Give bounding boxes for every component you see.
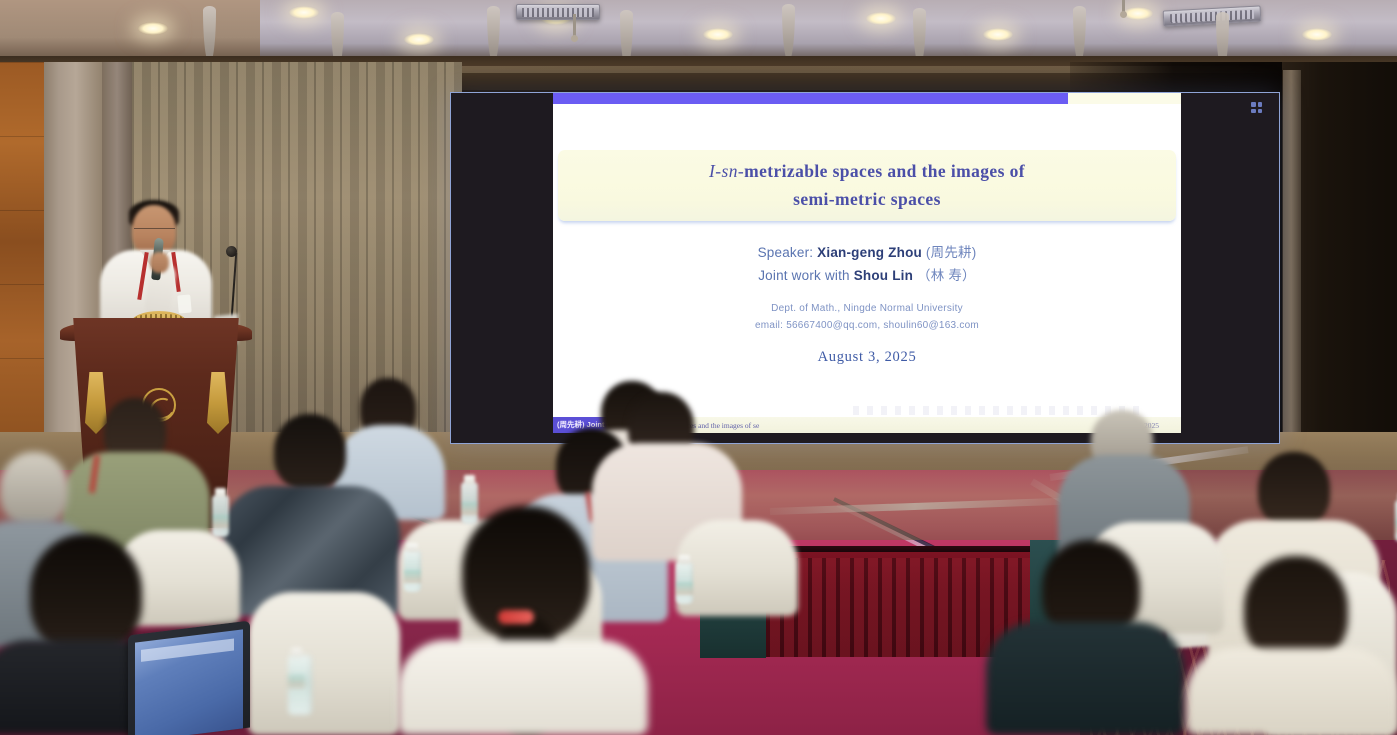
- presentation-slide: I-sn-metrizable spaces and the images of…: [553, 93, 1181, 433]
- downlight-3: [404, 33, 434, 46]
- track-light-fixture-left: [516, 4, 600, 20]
- chair-4: [676, 520, 798, 616]
- slide-speaker-line: Speaker: Xian-geng Zhou (周先耕): [553, 241, 1181, 264]
- audience-head-mid-5: [1258, 452, 1330, 528]
- front-desk-red-skirt: [766, 552, 1030, 657]
- audience-head-mid-2: [274, 414, 346, 490]
- audience-head-near-1: [30, 534, 142, 654]
- water-bottle-2[interactable]: [461, 482, 478, 524]
- downlight-5: [703, 28, 733, 41]
- joint-name: Shou Lin: [854, 268, 913, 283]
- audience-laptop[interactable]: [128, 621, 250, 735]
- water-bottle-3[interactable]: [404, 550, 421, 592]
- ceiling-warm-section: [0, 0, 260, 62]
- laptop-screen: [135, 629, 243, 735]
- downlight-7: [983, 28, 1013, 41]
- water-bottle-5[interactable]: [288, 655, 312, 715]
- downlight-6: [866, 12, 896, 25]
- downlight-8: [1123, 7, 1153, 20]
- downlight-2: [289, 6, 319, 19]
- slide-speaker-block: Speaker: Xian-geng Zhou (周先耕) Joint work…: [553, 241, 1181, 287]
- slide-date: August 3, 2025: [553, 349, 1181, 366]
- presenter-hand: [150, 252, 169, 273]
- audience-torso-near-3: [986, 622, 1184, 735]
- affiliation-text: Dept. of Math., Ningde Normal University: [553, 301, 1181, 318]
- water-bottle-1[interactable]: [212, 495, 229, 537]
- audience-head-near-0: [0, 452, 68, 526]
- slide-faint-text-artifact: [853, 406, 1143, 415]
- chair-7: [248, 592, 400, 735]
- slide-title-box: I-sn-metrizable spaces and the images of…: [558, 150, 1176, 221]
- audience-hair-tie-red: [498, 610, 534, 624]
- slide-title-rest: metrizable spaces and the images of: [744, 161, 1025, 181]
- slide-title-sn: -sn-: [715, 161, 744, 181]
- projection-screen[interactable]: I-sn-metrizable spaces and the images of…: [450, 92, 1280, 444]
- joint-label: Joint work with: [758, 268, 850, 283]
- slide-titlebar-end: [1068, 93, 1181, 104]
- slide-joint-line: Joint work with Shou Lin （林 寿）: [553, 264, 1181, 287]
- downlight-1: [138, 22, 168, 35]
- speaker-name: Xian-geng Zhou: [817, 245, 922, 260]
- slide-date-block: August 3, 2025: [553, 349, 1181, 366]
- water-bottle-4[interactable]: [676, 562, 693, 604]
- slide-title-line-1: I-sn-metrizable spaces and the images of: [709, 158, 1025, 185]
- slide-title-line-2: semi-metric spaces: [793, 186, 941, 213]
- audience-torso-near-2: [398, 640, 648, 735]
- joint-name-cjk: （林 寿）: [917, 268, 976, 283]
- speaker-name-cjk: (周先耕): [926, 245, 977, 260]
- sprinkler-head-2: [1122, 0, 1125, 14]
- speaker-label: Speaker:: [758, 245, 814, 260]
- presenter-glasses: [134, 228, 175, 236]
- lecture-hall-photo: I-sn-metrizable spaces and the images of…: [0, 0, 1397, 735]
- footer-title: I-sn-metrizable spaces and the images of…: [624, 421, 1113, 430]
- presenter-name-badge: [177, 294, 192, 313]
- grid-dots-icon: [1251, 102, 1262, 113]
- email-text: email: 56667400@qq.com, shoulin60@163.co…: [553, 318, 1181, 335]
- audience-torso-near-4: [1186, 648, 1397, 735]
- downlight-9: [1302, 28, 1332, 41]
- slide-affiliation-block: Dept. of Math., Ningde Normal University…: [553, 301, 1181, 334]
- slide-titlebar-purple: [553, 93, 1068, 104]
- sprinkler-head-1: [573, 14, 576, 38]
- microphone-head: [226, 246, 237, 257]
